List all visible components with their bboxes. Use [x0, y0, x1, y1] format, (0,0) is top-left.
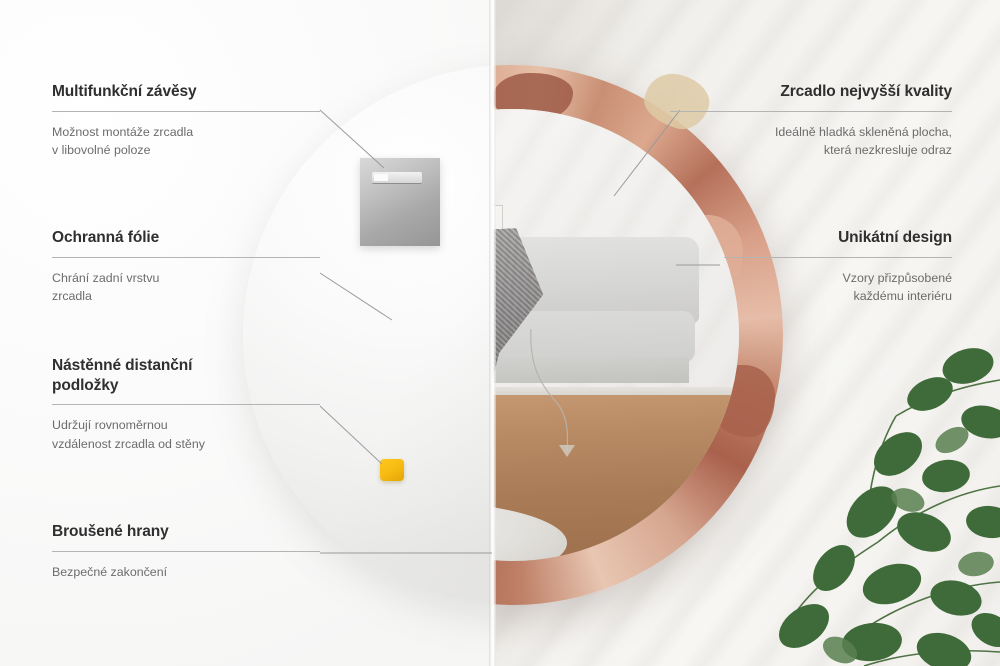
feature-description: Ideálně hladká skleněná plocha, která ne…: [670, 123, 952, 160]
feature-desc-line: Ideálně hladká skleněná plocha,: [775, 125, 952, 139]
feature-rule: [52, 111, 320, 112]
feature-rule: [670, 111, 952, 112]
feature-unikatni-design: Unikátní design Vzory přizpůsobené každé…: [724, 228, 952, 306]
feature-desc-line: Možnost montáže zrcadla: [52, 125, 193, 139]
feature-title: Broušené hrany: [52, 522, 320, 542]
feature-title: Multifunkční závěsy: [52, 82, 320, 102]
feature-description: Udržují rovnoměrnou vzdálenost zrcadla o…: [52, 416, 320, 453]
half-split-seam: [489, 0, 496, 666]
feature-desc-line: Chrání zadní vrstvu: [52, 271, 159, 285]
feature-rule: [52, 257, 320, 258]
feature-title: Unikátní design: [724, 228, 952, 248]
feature-desc-line: Udržují rovnoměrnou: [52, 418, 168, 432]
feature-rule: [52, 404, 320, 405]
hanger-bracket: [360, 158, 440, 246]
spacer-pad: [380, 459, 404, 481]
feature-zrcadlo-nejvyssi-kvality: Zrcadlo nejvyšší kvality Ideálně hladká …: [670, 82, 952, 160]
infographic-stage: Multifunkční závěsy Možnost montáže zrca…: [0, 0, 1000, 666]
feature-rule: [724, 257, 952, 258]
feature-brousene-hrany: Broušené hrany Bezpečné zakončení: [52, 522, 320, 581]
feature-ochranna-folie: Ochranná fólie Chrání zadní vrstvu zrcad…: [52, 228, 320, 306]
feature-nastenne-distancni-podlozky: Nástěnné distanční podložky Udržují rovn…: [52, 356, 320, 453]
eucalyptus-foliage: [700, 336, 1000, 666]
feature-desc-line: vzdálenost zrcadla od stěny: [52, 437, 205, 451]
feature-description: Vzory přizpůsobené každému interiéru: [724, 269, 952, 306]
feature-description: Bezpečné zakončení: [52, 563, 320, 582]
feature-description: Chrání zadní vrstvu zrcadla: [52, 269, 320, 306]
feature-multifunkcni-zavesy: Multifunkční závěsy Možnost montáže zrca…: [52, 82, 320, 160]
feature-desc-line: Vzory přizpůsobené: [842, 271, 952, 285]
reflected-lamp-cord: [523, 329, 593, 479]
feature-title: Zrcadlo nejvyšší kvality: [670, 82, 952, 102]
hanger-slot: [372, 172, 422, 184]
feature-desc-line: každému interiéru: [854, 289, 952, 303]
feature-title-line: Nástěnné distanční: [52, 357, 192, 374]
feature-description: Možnost montáže zrcadla v libovolné polo…: [52, 123, 320, 160]
feature-desc-line: která nezkresluje odraz: [824, 143, 952, 157]
feature-title-line: podložky: [52, 377, 118, 394]
feature-rule: [52, 551, 320, 552]
feature-desc-line: zrcadla: [52, 289, 92, 303]
feature-desc-line: v libovolné poloze: [52, 143, 151, 157]
feature-title: Ochranná fólie: [52, 228, 320, 248]
feature-title: Nástěnné distanční podložky: [52, 356, 320, 395]
